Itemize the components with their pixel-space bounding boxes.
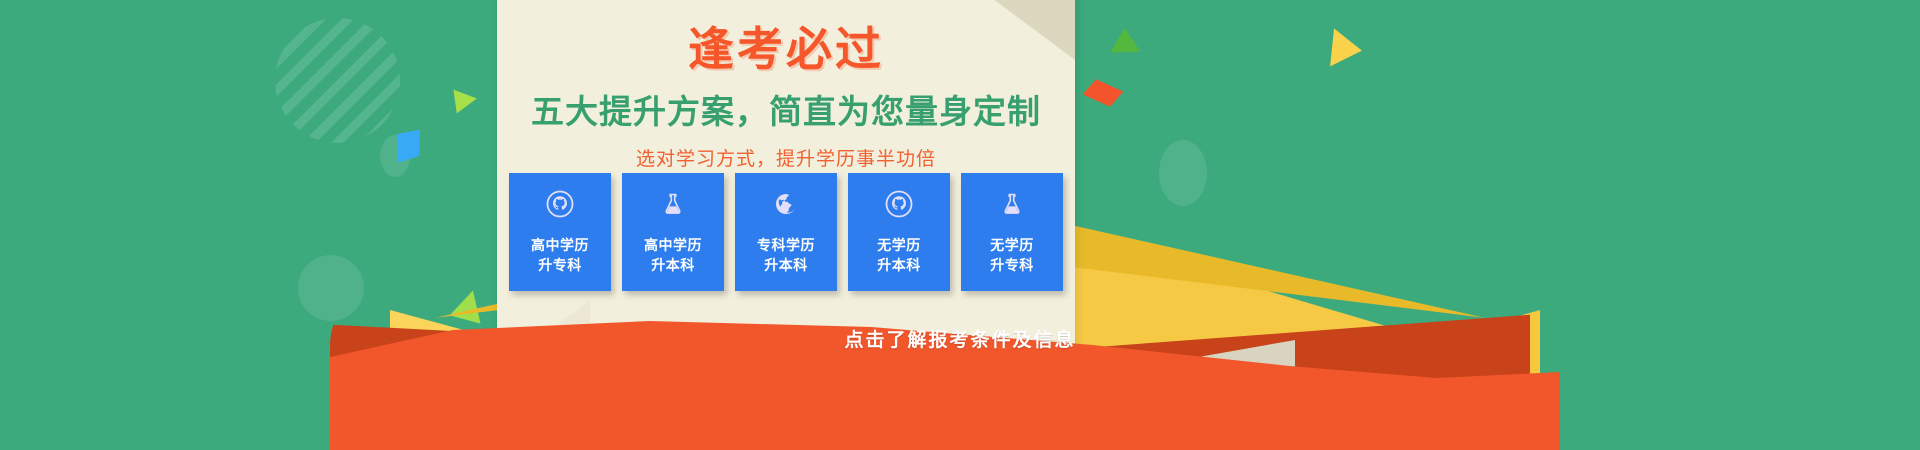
ribbon-shadow — [330, 285, 1530, 450]
card-line-1: 无学历 — [990, 237, 1034, 253]
confetti-green-icon — [450, 286, 489, 323]
cta-ribbon-text[interactable]: 点击了解报考条件及信息 — [0, 325, 1920, 352]
option-card-high-school-to-bachelor[interactable]: 高中学历 升本科 — [622, 173, 724, 291]
confetti-yellow-icon — [1330, 29, 1364, 70]
option-card-high-school-to-college[interactable]: 高中学历 升专科 — [509, 173, 611, 291]
card-line-1: 高中学历 — [531, 237, 589, 253]
flask-icon — [997, 189, 1027, 219]
card-line-1: 专科学历 — [757, 237, 815, 253]
ribbon-tail — [1095, 340, 1295, 420]
circle-decoration — [298, 255, 364, 321]
circle-decoration — [1159, 140, 1207, 206]
circle-decoration — [380, 135, 410, 177]
headline-block: 逢考必过 五大提升方案，简直为您量身定制 选对学习方式，提升学历事半功倍 — [497, 0, 1075, 171]
paper-edge-left — [470, 300, 590, 450]
card-line-2: 升本科 — [764, 257, 808, 273]
octocat-icon — [884, 189, 914, 219]
subtitle: 五大提升方案，简直为您量身定制 — [497, 94, 1075, 130]
card-line-1: 高中学历 — [644, 237, 702, 253]
option-card-label: 无学历 升本科 — [877, 235, 921, 276]
option-card-college-to-bachelor[interactable]: 专科学历 升本科 — [735, 173, 837, 291]
card-line-2: 升专科 — [538, 257, 582, 273]
option-card-label: 专科学历 升本科 — [757, 235, 815, 276]
option-card-list: 高中学历 升专科 高中学历 升本科 — [497, 173, 1075, 291]
globe-icon — [771, 189, 801, 219]
striped-circle-decoration — [275, 18, 400, 143]
confetti-orange-icon — [1083, 79, 1124, 106]
confetti-green-icon — [1110, 27, 1141, 52]
option-card-no-degree-to-bachelor[interactable]: 无学历 升本科 — [848, 173, 950, 291]
confetti-green-icon — [453, 87, 478, 114]
promo-banner: 逢考必过 五大提升方案，简直为您量身定制 选对学习方式，提升学历事半功倍 高中学… — [0, 0, 1920, 450]
option-card-label: 高中学历 升专科 — [531, 235, 589, 276]
option-card-no-degree-to-college[interactable]: 无学历 升专科 — [961, 173, 1063, 291]
card-line-2: 升本科 — [651, 257, 695, 273]
option-card-label: 高中学历 升本科 — [644, 235, 702, 276]
tagline-text: 选对学习方式，提升学历事半功倍 — [497, 144, 1075, 171]
ribbon-banner — [330, 300, 1560, 450]
option-card-label: 无学历 升专科 — [990, 235, 1034, 276]
card-line-2: 升本科 — [877, 257, 921, 273]
page-title: 逢考必过 — [497, 26, 1075, 72]
card-line-2: 升专科 — [990, 257, 1034, 273]
octocat-icon — [545, 189, 575, 219]
card-line-1: 无学历 — [877, 237, 921, 253]
confetti-blue-icon — [393, 126, 424, 165]
flask-icon — [658, 189, 688, 219]
ribbon-notch — [1070, 348, 1200, 408]
